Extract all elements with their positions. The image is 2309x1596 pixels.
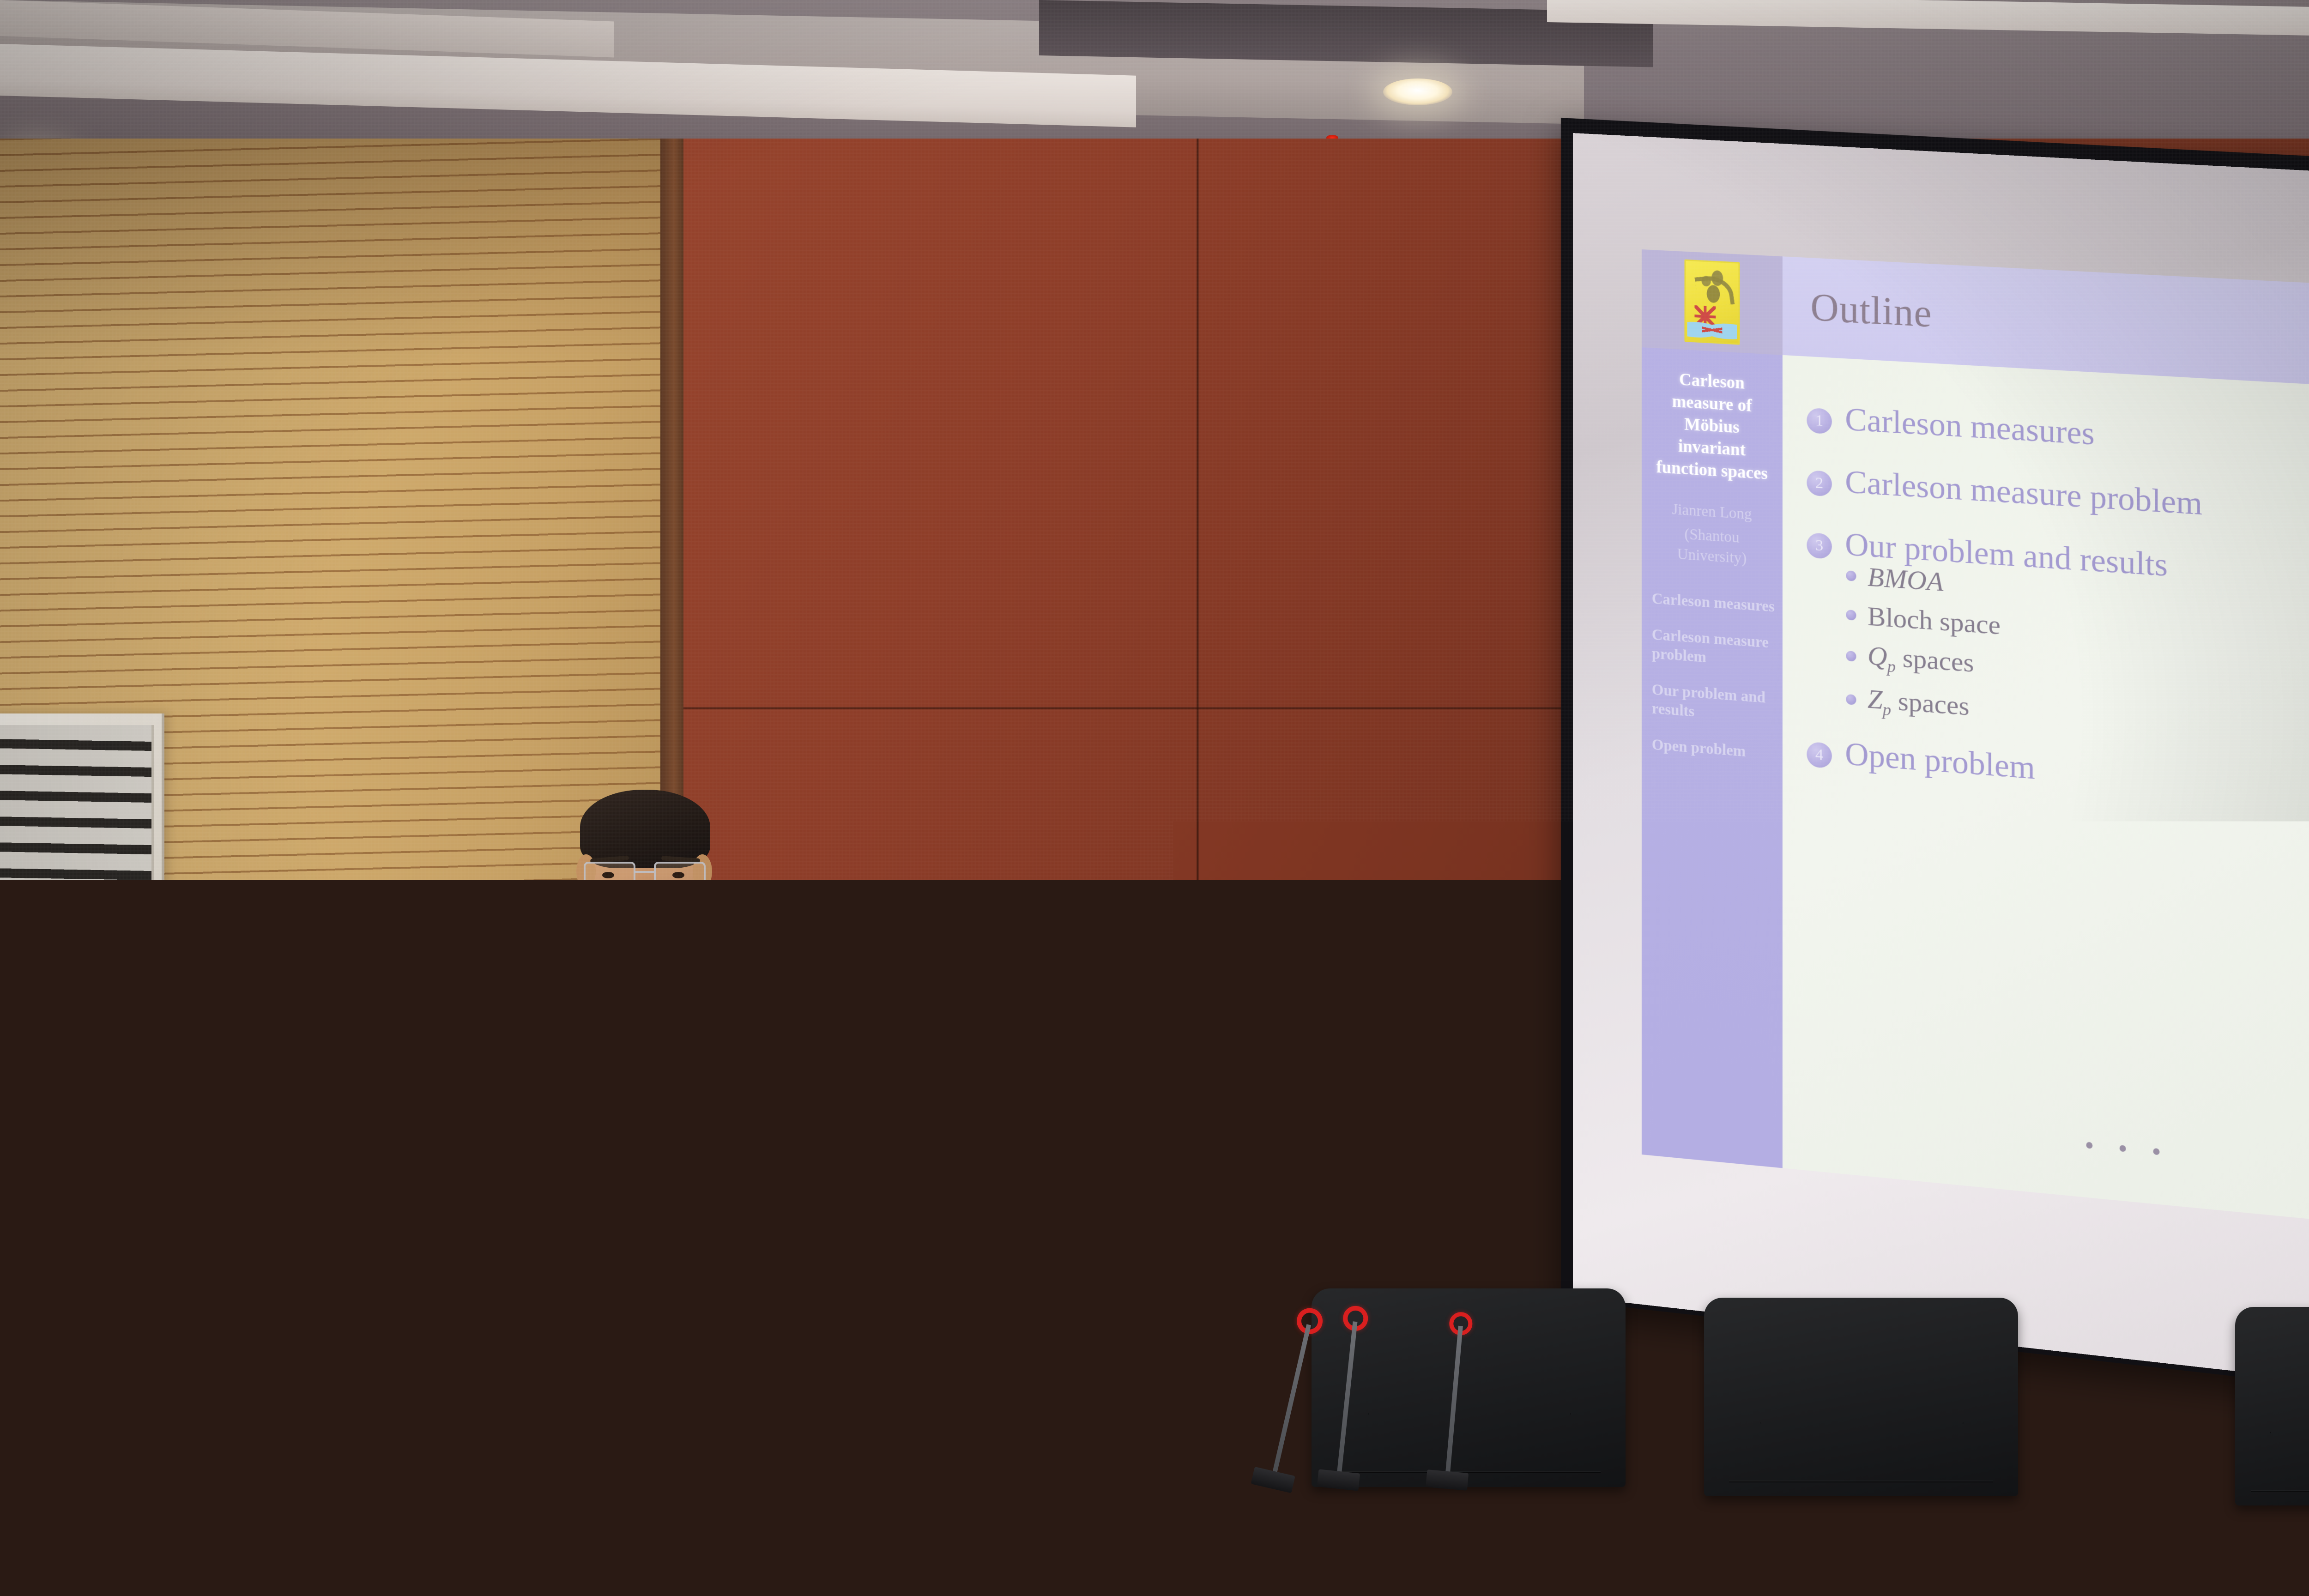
sidebar-item-carleson-measures[interactable]: Carleson measures	[1652, 590, 1783, 618]
presenter-hair	[580, 790, 710, 868]
sidebar-item-our-problem-and-results[interactable]: Our problem and results	[1652, 680, 1783, 728]
bullet-dot-icon	[1846, 610, 1856, 621]
bullet-dot-icon	[1846, 694, 1856, 705]
slide-sidebar-nav: Carleson measures Carleson measure probl…	[1642, 562, 1783, 765]
slide-deck-title: Carleson measure of Möbius invariant fun…	[1642, 347, 1783, 486]
toc-subitems: BMOA Bloch space Qp spaces Zp spaces	[1846, 562, 2309, 756]
university-crest-logo-icon	[1684, 260, 1740, 345]
subitem-tail: spaces	[1891, 685, 1970, 721]
presenter-mouth	[627, 926, 670, 942]
slide-main: Outline 1 Carleson measures 2 Carleson m…	[1783, 256, 2309, 1228]
audience-member-body	[0, 1473, 139, 1596]
subitem-label: BMOA	[1868, 562, 1943, 597]
energy-efficiency-label	[113, 955, 147, 1030]
laptop-power-led-icon	[524, 1399, 532, 1407]
toc-item-1: 1 Carleson measures	[1807, 401, 2309, 469]
toc-number-badge: 2	[1807, 470, 1832, 497]
air-conditioner-temperature: 24	[4, 978, 40, 1012]
laptop	[492, 1368, 713, 1453]
lecture-hall-photo: 24 Carleson measure of Möbius invariant …	[0, 0, 2309, 1596]
toc-item-2: 2 Carleson measure problem	[1807, 464, 2309, 533]
slide-body: 1 Carleson measures 2 Carleson measure p…	[1783, 355, 2309, 1228]
subitem-subscript: p	[1887, 657, 1896, 676]
toc-number-badge: 4	[1807, 742, 1832, 769]
toc-number-badge: 1	[1807, 408, 1832, 435]
presenter-nose	[636, 885, 655, 913]
subitem-tail: spaces	[1896, 642, 1974, 678]
chair	[1704, 1298, 2018, 1496]
presentation-slide: Carleson measure of Möbius invariant fun…	[1642, 249, 2309, 1228]
podium-status-led-icon	[272, 1577, 298, 1584]
bullet-dot-icon	[1846, 570, 1856, 581]
toc-item-4: 4 Open problem	[1807, 735, 2309, 813]
subitem-label: Bloch space	[1868, 601, 2001, 641]
slide-sidebar: Carleson measure of Möbius invariant fun…	[1642, 249, 1783, 1168]
toc-label: Open problem	[1845, 738, 2035, 785]
toc-number-badge: 3	[1807, 532, 1832, 559]
downlight-icon	[1383, 79, 1452, 105]
subitem-symbol: Z	[1868, 683, 1883, 715]
jacket-brand-label: Columbia	[725, 1201, 813, 1221]
sidebar-item-open-problem[interactable]: Open problem	[1652, 736, 1783, 765]
bullet-dot-icon	[1846, 651, 1856, 662]
sidebar-item-carleson-measure-problem[interactable]: Carleson measure problem	[1652, 625, 1783, 673]
presenter-eye	[602, 872, 614, 878]
subitem-subscript: p	[1883, 700, 1891, 719]
toc-label: Carleson measures	[1845, 403, 2095, 451]
foreground-equipment	[180, 1385, 268, 1596]
slide-footer-ellipsis: • • •	[2085, 1130, 2170, 1168]
presenter-eye	[672, 872, 684, 878]
wall-seam	[1196, 139, 1199, 1432]
subitem-symbol: Q	[1868, 640, 1887, 672]
paper-cup-rim	[1021, 1419, 1089, 1428]
slide-logo-area	[1642, 249, 1783, 355]
toc-label: Carleson measure problem	[1845, 466, 2202, 521]
chair	[965, 1272, 1288, 1471]
page-title: Outline	[1783, 283, 1932, 336]
